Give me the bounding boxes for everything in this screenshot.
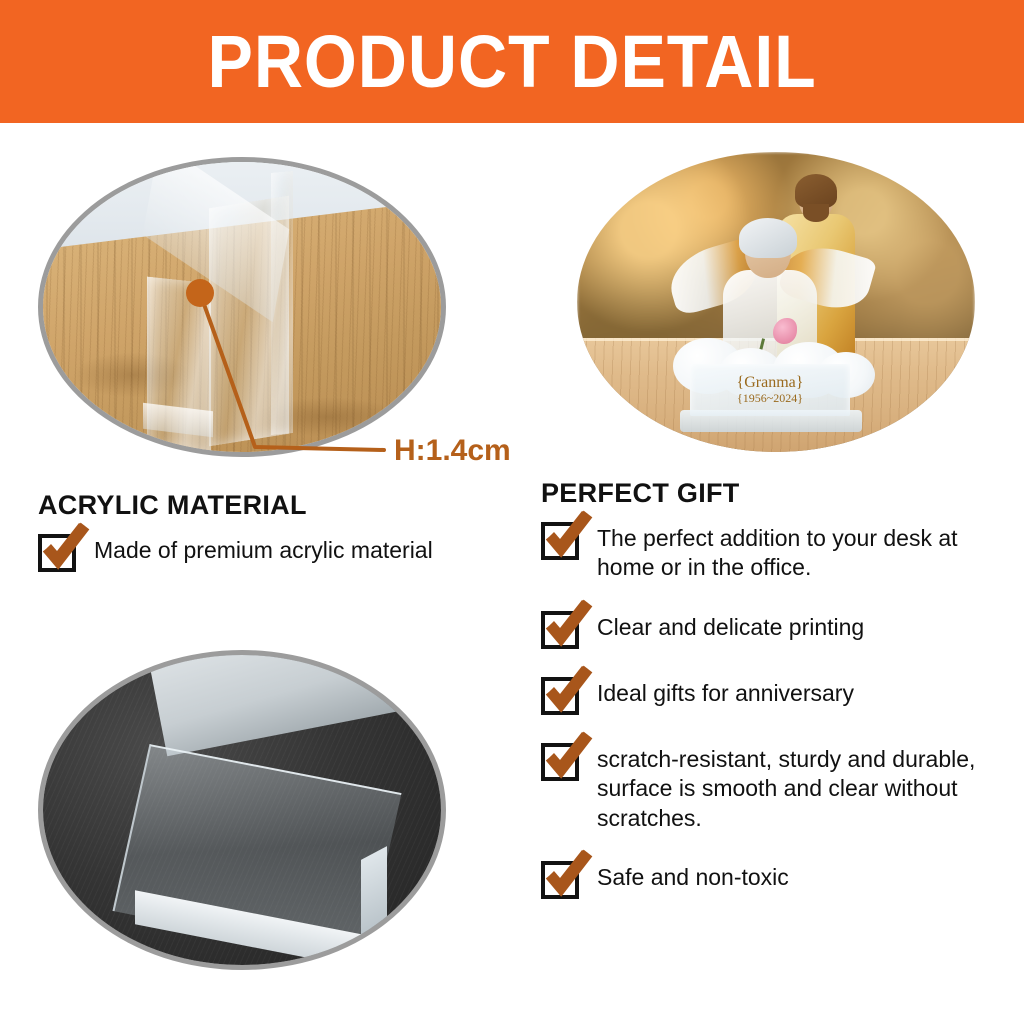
figurine-group: {Granma} {1956~2024} [577,152,975,452]
feature-item: scratch-resistant, sturdy and durable, s… [541,741,1011,833]
photo-acrylic-block [38,650,446,970]
feature-item: Ideal gifts for anniversary [541,675,1011,715]
engraved-plaque: {Granma} {1956~2024} [690,364,850,416]
checkmark-icon [541,861,579,899]
plaque-dates-text: {1956~2024} [737,392,803,406]
feature-list-acrylic-material: Made of premium acrylic material [38,532,508,594]
checkmark-icon [38,534,76,572]
callout-dot [186,279,214,307]
checkmark-icon [541,522,579,560]
feature-item: Made of premium acrylic material [38,532,508,572]
feature-list-perfect-gift: The perfect addition to your desk at hom… [541,520,1011,925]
feature-item: The perfect addition to your desk at hom… [541,520,1011,583]
section-heading-perfect-gift: PERFECT GIFT [541,478,740,509]
jesus-beard [803,204,829,222]
feature-text: scratch-resistant, sturdy and durable, s… [597,741,1011,833]
feature-text: Safe and non-toxic [597,859,789,892]
plaque-name-text: {Granma} [737,374,804,391]
checkmark-icon [541,611,579,649]
checkmark-icon [541,677,579,715]
feature-item: Safe and non-toxic [541,859,1011,899]
photo-acrylic-edge [38,157,446,457]
dimension-label: H:1.4cm [394,434,511,468]
figurine-base [680,410,862,432]
page-title: PRODUCT DETAIL [207,25,816,99]
acrylic-edge-scene [43,162,441,452]
acrylic-block-right-edge [361,846,387,938]
page-header-banner: PRODUCT DETAIL [0,0,1024,123]
jesus-hair [795,174,837,208]
grandmother-hair [739,218,797,258]
feature-text: Clear and delicate printing [597,609,864,642]
section-heading-acrylic-material: ACRYLIC MATERIAL [38,490,307,521]
feature-text: Ideal gifts for anniversary [597,675,854,708]
checkmark-icon [541,743,579,781]
feature-text: The perfect addition to your desk at hom… [597,520,1011,583]
feature-text: Made of premium acrylic material [94,532,433,565]
acrylic-far-edge [271,171,293,435]
feature-item: Clear and delicate printing [541,609,1011,649]
photo-memorial-figurine: {Granma} {1956~2024} [577,152,975,452]
